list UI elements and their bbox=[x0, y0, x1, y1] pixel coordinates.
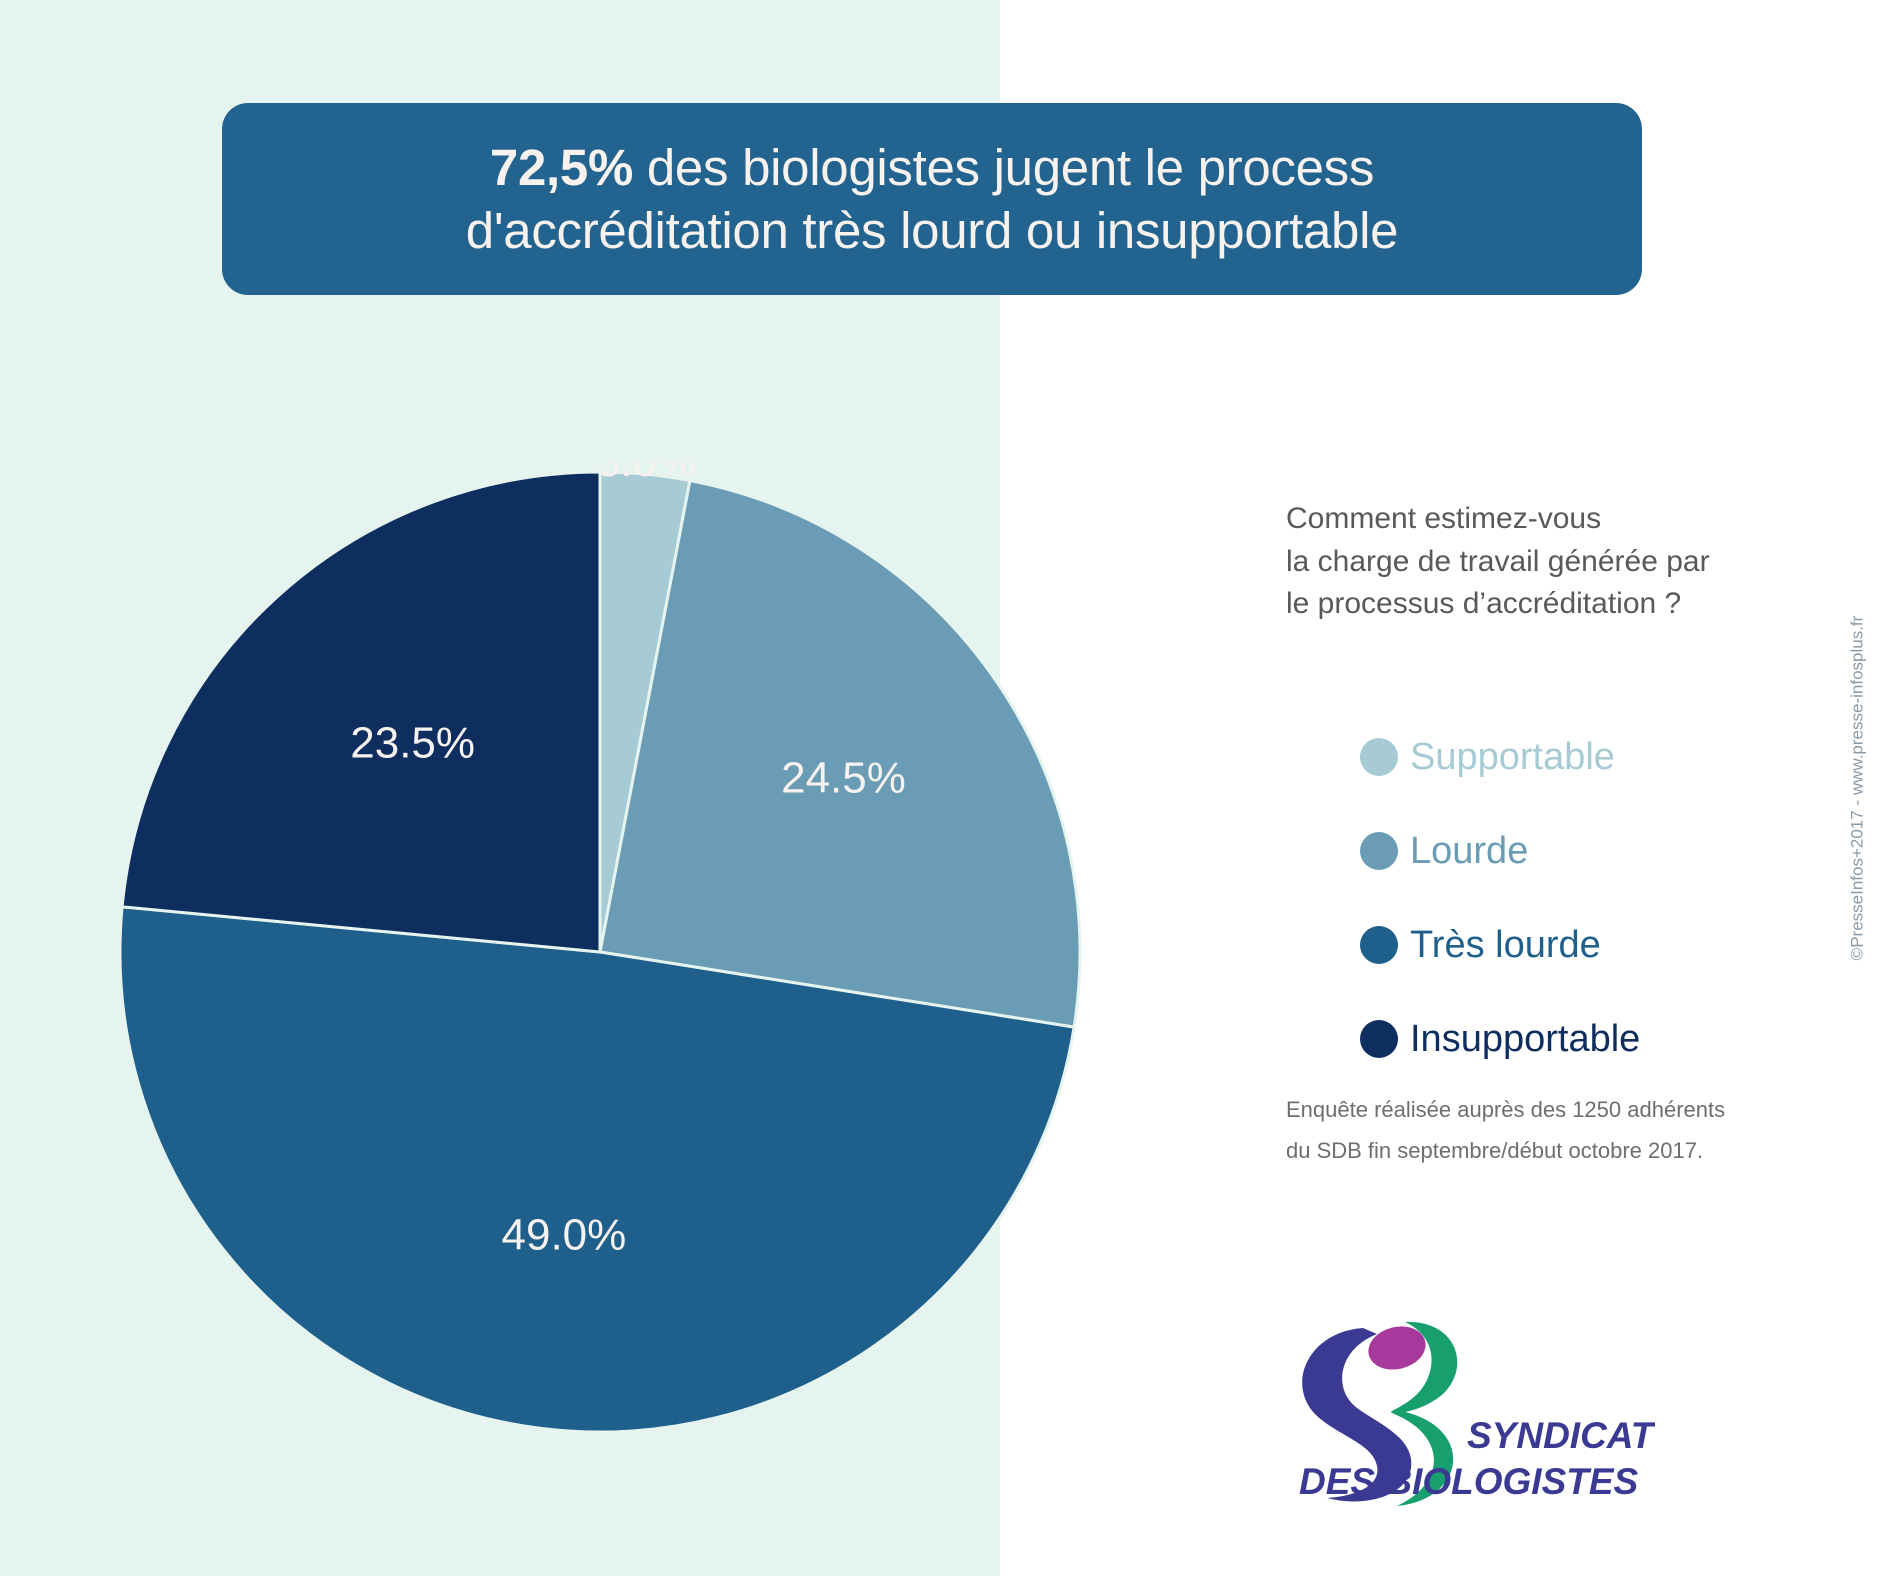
legend-item-label: Supportable bbox=[1410, 738, 1615, 776]
survey-note-line-1: Enquête réalisée auprès des 1250 adhéren… bbox=[1286, 1090, 1806, 1131]
pie-slice-insupportable[interactable] bbox=[122, 472, 600, 952]
legend-item-insupportable[interactable]: Insupportable bbox=[1360, 992, 1820, 1086]
question-line-2: la charge de travail générée par bbox=[1286, 541, 1806, 584]
sdb-logo-svg: SYNDICAT DES BIOLOGISTES bbox=[1255, 1312, 1655, 1512]
legend-item-label: Insupportable bbox=[1410, 1020, 1640, 1058]
chart-legend: SupportableLourdeTrès lourdeInsupportabl… bbox=[1360, 710, 1820, 1086]
title-line2: d'accréditation très lourd ou insupporta… bbox=[466, 202, 1398, 259]
legend-item-supportable[interactable]: Supportable bbox=[1360, 710, 1820, 804]
title-highlight: 72,5% bbox=[490, 139, 633, 196]
legend-swatch-icon bbox=[1360, 1020, 1398, 1058]
pie-slice-label: 49.0% bbox=[502, 1210, 627, 1259]
legend-swatch-icon bbox=[1360, 832, 1398, 870]
copyright-credit: ©PresseInfos+2017 - www.presse-infosplus… bbox=[1840, 0, 1874, 1576]
survey-note: Enquête réalisée auprès des 1250 adhéren… bbox=[1286, 1090, 1806, 1171]
pie-slice-label: 23.5% bbox=[350, 719, 475, 768]
chart-question: Comment estimez-vous la charge de travai… bbox=[1286, 498, 1806, 626]
pie-chart: 3.0%24.5%49.0%23.5% bbox=[110, 462, 1090, 1442]
legend-swatch-icon bbox=[1360, 926, 1398, 964]
sdb-logo: SYNDICAT DES BIOLOGISTES bbox=[1255, 1312, 1655, 1512]
logo-text-line-1: SYNDICAT bbox=[1467, 1415, 1655, 1456]
legend-item-label: Lourde bbox=[1410, 832, 1528, 870]
survey-note-line-2: du SDB fin septembre/début octobre 2017. bbox=[1286, 1131, 1806, 1172]
legend-item-lourde[interactable]: Lourde bbox=[1360, 804, 1820, 898]
infographic-root: 72,5% des biologistes jugent le process … bbox=[0, 0, 1880, 1576]
question-line-3: le processus d’accréditation ? bbox=[1286, 583, 1806, 626]
title-rest-line1: des biologistes jugent le process bbox=[633, 139, 1374, 196]
legend-swatch-icon bbox=[1360, 738, 1398, 776]
copyright-text: ©PresseInfos+2017 - www.presse-infosplus… bbox=[1847, 616, 1867, 961]
pie-slice-label: 24.5% bbox=[781, 754, 906, 803]
page-title: 72,5% des biologistes jugent le process … bbox=[466, 136, 1398, 262]
logo-text-line-2: DES BIOLOGISTES bbox=[1299, 1461, 1639, 1502]
legend-item-label: Très lourde bbox=[1410, 926, 1601, 964]
question-line-1: Comment estimez-vous bbox=[1286, 498, 1806, 541]
legend-item-tr-s-lourde[interactable]: Très lourde bbox=[1360, 898, 1820, 992]
title-banner: 72,5% des biologistes jugent le process … bbox=[222, 103, 1642, 295]
pie-slice-label: 3.0% bbox=[596, 462, 696, 486]
pie-chart-svg: 3.0%24.5%49.0%23.5% bbox=[110, 462, 1090, 1442]
